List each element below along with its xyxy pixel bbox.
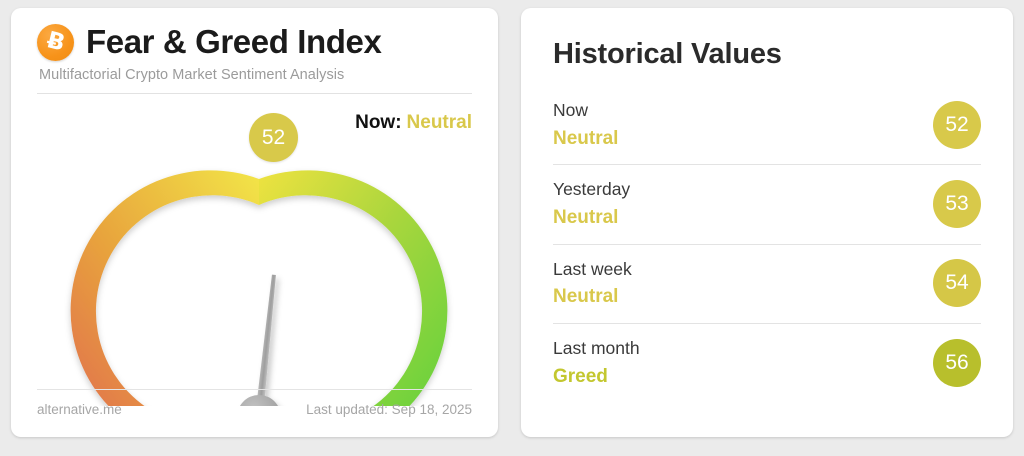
page-subtitle: Multifactorial Crypto Market Sentiment A… <box>39 67 472 83</box>
list-item[interactable]: Yesterday Neutral 53 <box>553 164 981 243</box>
fear-greed-widget: Ƀ Fear & Greed Index Multifactorial Cryp… <box>0 0 1024 456</box>
history-classification: Neutral <box>553 206 630 230</box>
bitcoin-icon: Ƀ <box>37 24 74 61</box>
history-period: Last month <box>553 337 640 361</box>
list-item[interactable]: Now Neutral 52 <box>553 99 981 164</box>
page-title: Fear & Greed Index <box>86 25 381 60</box>
history-period: Last week <box>553 258 632 282</box>
list-item[interactable]: Last month Greed 56 <box>553 323 981 402</box>
gauge-chart: 52 <box>11 106 498 406</box>
gauge-arc-left <box>71 170 259 406</box>
history-list: Now Neutral 52 Yesterday Neutral 53 Last… <box>553 99 981 403</box>
history-classification: Neutral <box>553 285 632 309</box>
list-item[interactable]: Last week Neutral 54 <box>553 244 981 323</box>
gauge-card: Ƀ Fear & Greed Index Multifactorial Cryp… <box>11 8 498 437</box>
history-value-badge: 52 <box>933 101 981 149</box>
card-header: Ƀ Fear & Greed Index <box>37 8 472 61</box>
history-card: Historical Values Now Neutral 52 Yesterd… <box>521 8 1013 437</box>
history-classification: Neutral <box>553 127 618 151</box>
last-updated: Last updated: Sep 18, 2025 <box>306 402 472 417</box>
source-link[interactable]: alternative.me <box>37 402 122 417</box>
gauge-svg: Ƀ <box>11 106 498 406</box>
history-period: Now <box>553 99 618 123</box>
history-title: Historical Values <box>553 38 981 71</box>
history-period: Yesterday <box>553 178 630 202</box>
gauge-arc <box>71 170 448 406</box>
history-value-badge: 53 <box>933 180 981 228</box>
history-value-badge: 56 <box>933 339 981 387</box>
footer-divider <box>37 389 472 390</box>
history-value-badge: 54 <box>933 259 981 307</box>
bitcoin-glyph: Ƀ <box>44 29 67 56</box>
card-footer: alternative.me Last updated: Sep 18, 202… <box>37 389 472 417</box>
gauge-needle <box>237 274 281 406</box>
header-divider <box>37 93 472 94</box>
history-classification: Greed <box>553 365 640 389</box>
gauge-arc-right <box>259 170 447 406</box>
